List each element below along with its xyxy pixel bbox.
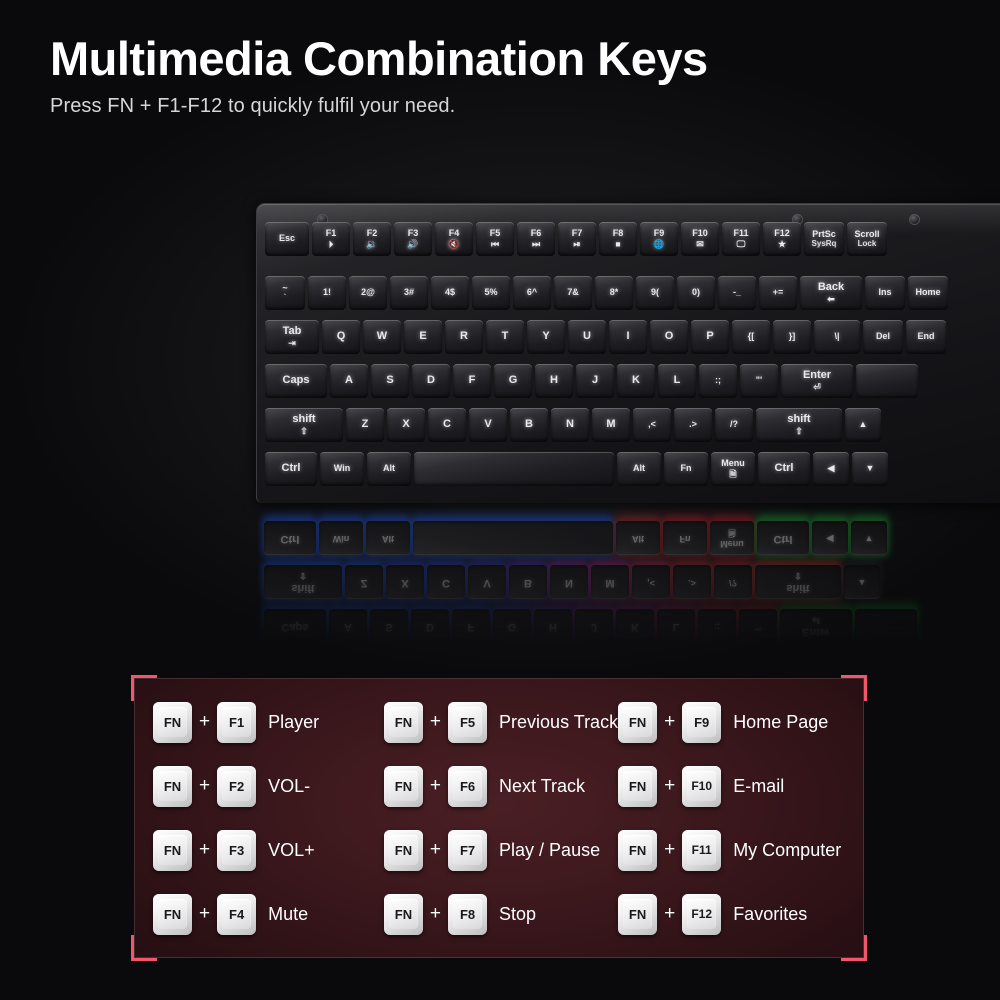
keyboard-key: F4🔇	[435, 222, 473, 256]
function-keycap-label: F12	[691, 907, 712, 921]
fn-keycap-label: FN	[395, 779, 412, 794]
key-glyph-icon: ⬅	[827, 295, 835, 304]
keyboard-key: K	[616, 609, 654, 643]
key-label: 6^	[527, 288, 537, 297]
combination-action-label: E-mail	[733, 776, 784, 797]
key-label: Z	[361, 576, 368, 588]
keyboard-key: {[	[732, 320, 770, 354]
keyboard-key: /?	[715, 408, 753, 442]
key-label: K	[632, 375, 640, 387]
keyboard-reflection: EscF1⏵F2🔉F3🔊F4🔇F5⏮F6⏭F7⏯F8⏹F9🌐F10✉F11🖵F1…	[256, 503, 1000, 653]
fn-keycap: FN	[153, 766, 192, 807]
key-label: 0)	[692, 288, 700, 297]
keyboard-key: Ins	[865, 276, 905, 310]
keyboard-key: H	[534, 609, 572, 643]
keyboard-key: F8⏹	[599, 222, 637, 256]
key-label: C	[442, 576, 450, 588]
key-label: Scroll	[854, 230, 879, 239]
function-keycap: F7	[448, 830, 487, 871]
key-label: F9	[654, 229, 665, 238]
keyboard-key: shift⇧	[265, 408, 343, 442]
keyboard-key: ▼	[852, 452, 888, 486]
keyboard-key: X	[386, 565, 424, 599]
keyboard-body: EscF1⏵F2🔉F3🔊F4🔇F5⏮F6⏭F7⏯F8⏹F9🌐F10✉F11🖵F1…	[256, 503, 1000, 653]
combination-row: FN+F5Previous Track	[384, 690, 618, 754]
key-label: Q	[337, 331, 346, 343]
keyboard-key: ▲	[844, 565, 880, 599]
keyboard-key: shift⇧	[755, 565, 841, 599]
key-label: V	[483, 576, 490, 588]
keyboard-bottom-row: CtrlWinAltAltFnMenu🗎Ctrl◀▼	[265, 452, 891, 486]
key-glyph-icon: ★	[778, 240, 786, 249]
combination-row: FN+F10E-mail	[618, 754, 849, 818]
keyboard-key: N	[551, 408, 589, 442]
key-label: Enter	[803, 370, 831, 382]
plus-sign: +	[199, 711, 210, 733]
function-keycap: F3	[217, 830, 256, 871]
key-label: 8*	[610, 288, 619, 297]
keyboard-key: Z	[346, 408, 384, 442]
keyboard-key: P	[691, 320, 729, 354]
keyboard-key: F3🔊	[394, 222, 432, 256]
combination-row: FN+F8Stop	[384, 882, 618, 946]
keyboard-key: 3#	[390, 276, 428, 310]
key-label: F12	[774, 229, 790, 238]
keyboard-key: 7&	[554, 276, 592, 310]
key-label: Fn	[681, 464, 692, 473]
key-label: Ins	[878, 288, 891, 297]
keyboard-key: F7⏯	[558, 222, 596, 256]
combination-row: FN+F6Next Track	[384, 754, 618, 818]
key-label: {[	[748, 332, 755, 341]
keyboard-function-row: EscF1⏵F2🔉F3🔊F4🔇F5⏮F6⏭F7⏯F8⏹F9🌐F10✉F11🖵F1…	[265, 222, 890, 256]
key-label: X	[402, 419, 409, 431]
keyboard-key	[856, 364, 918, 398]
key-label: I	[626, 331, 629, 343]
function-keycap-label: F1	[229, 715, 244, 730]
keyboard-key: \|	[814, 320, 860, 354]
key-label: Win	[334, 464, 350, 473]
key-label: :;	[715, 376, 721, 385]
key-label: Del	[876, 332, 890, 341]
fn-keycap-label: FN	[395, 715, 412, 730]
keyboard-key: T	[486, 320, 524, 354]
key-label: ▲	[858, 577, 867, 586]
fn-keycap: FN	[618, 702, 657, 743]
keyboard-key: M	[592, 408, 630, 442]
keyboard-key: Home	[908, 276, 948, 310]
keyboard-key: Alt	[617, 452, 661, 486]
fn-keycap-label: FN	[629, 843, 646, 858]
key-label: Enter	[802, 625, 830, 637]
key-label: "'	[756, 376, 762, 385]
keyboard-key: K	[617, 364, 655, 398]
keyboard-key: ◀	[812, 521, 848, 555]
keyboard-key: ~`	[265, 276, 305, 310]
function-keycap: F8	[448, 894, 487, 935]
key-label: Z	[362, 419, 369, 431]
key-label: Caps	[283, 375, 310, 387]
combination-action-label: Previous Track	[499, 712, 618, 733]
keyboard-key: "'	[739, 609, 777, 643]
key-label: }]	[789, 332, 796, 341]
key-label: N	[565, 576, 573, 588]
function-keycap-label: F5	[460, 715, 475, 730]
key-label: /?	[730, 420, 738, 429]
key-label: Alt	[633, 464, 645, 473]
function-keycap-label: F9	[694, 715, 709, 730]
keyboard-key: Win	[320, 452, 364, 486]
fn-keycap: FN	[618, 766, 657, 807]
combination-keys-grid: FN+F1PlayerFN+F5Previous TrackFN+F9Home …	[135, 679, 863, 957]
key-label: End	[918, 332, 935, 341]
key-glyph-icon: ⏭	[532, 240, 540, 249]
keyboard-key: Back⬅	[800, 276, 862, 310]
keyboard-key: G	[493, 609, 531, 643]
keyboard-key: F9🌐	[640, 222, 678, 256]
keyboard-key: F12★	[763, 222, 801, 256]
keyboard-key: N	[550, 565, 588, 599]
key-label: Alt	[382, 533, 394, 542]
keyboard-body: EscF1⏵F2🔉F3🔊F4🔇F5⏮F6⏭F7⏯F8⏹F9🌐F10✉F11🖵F1…	[256, 203, 1000, 503]
keyboard-key: Ctrl	[757, 521, 809, 555]
function-keycap-label: F7	[460, 843, 475, 858]
key-label: G	[509, 375, 518, 387]
key-glyph-icon: 🔉	[366, 240, 377, 249]
key-label: Menu	[721, 459, 745, 468]
key-label: E	[419, 331, 426, 343]
key-label: F	[468, 620, 475, 632]
key-label: L	[673, 620, 680, 632]
key-label: Ctrl	[281, 532, 300, 544]
keyboard-key: Caps	[264, 609, 326, 643]
keyboard-key: 0)	[677, 276, 715, 310]
plus-sign: +	[664, 711, 675, 733]
keyboard-image: EscF1⏵F2🔉F3🔊F4🔇F5⏮F6⏭F7⏯F8⏹F9🌐F10✉F11🖵F1…	[256, 203, 1000, 503]
function-keycap: F12	[682, 894, 721, 935]
keyboard-key: J	[576, 364, 614, 398]
key-label: 3#	[404, 288, 414, 297]
page-background: Multimedia Combination Keys Press FN + F…	[0, 0, 1000, 1000]
key-label: J	[591, 620, 597, 632]
keyboard-key: End	[906, 320, 946, 354]
keyboard-key: J	[575, 609, 613, 643]
keyboard-key: F10✉	[681, 222, 719, 256]
key-label: Caps	[282, 620, 309, 632]
keyboard-shift-row: shift⇧ZXCVBNM,<.>/?shift⇧▲	[264, 565, 883, 599]
key-label: .>	[689, 420, 697, 429]
combination-action-label: Mute	[268, 904, 308, 925]
key-label: Ctrl	[282, 463, 301, 475]
key-label: F3	[408, 229, 419, 238]
key-label: shift	[292, 414, 315, 426]
keyboard-key: ▲	[845, 408, 881, 442]
key-label: D	[426, 620, 434, 632]
key-label: J	[592, 375, 598, 387]
key-label: ▼	[865, 533, 874, 542]
keyboard-key: Alt	[367, 452, 411, 486]
keyboard-key: .>	[674, 408, 712, 442]
key-label: T	[502, 331, 509, 343]
keyboard-key: V	[469, 408, 507, 442]
combination-action-label: Home Page	[733, 712, 828, 733]
plus-sign: +	[430, 775, 441, 797]
keyboard-key: C	[427, 565, 465, 599]
key-label: ~	[282, 284, 287, 293]
keyboard-key: ,<	[632, 565, 670, 599]
keyboard-key: C	[428, 408, 466, 442]
function-keycap: F9	[682, 702, 721, 743]
keyboard-key: ScrollLock	[847, 222, 887, 256]
keyboard-key: X	[387, 408, 425, 442]
combination-row: FN+F1Player	[153, 690, 384, 754]
keyboard-key: ▼	[851, 521, 887, 555]
keyboard-key: Enter⏎	[780, 609, 852, 643]
keyboard-key: Fn	[664, 452, 708, 486]
key-label: B	[524, 576, 532, 588]
keyboard-key: B	[510, 408, 548, 442]
key-label: F5	[490, 229, 501, 238]
key-label: shift	[787, 414, 810, 426]
key-sublabel: `	[284, 294, 287, 302]
keyboard-key: Menu🗎	[710, 521, 754, 555]
keyboard-key: G	[494, 364, 532, 398]
keyboard-key: F5⏮	[476, 222, 514, 256]
key-label: M	[606, 419, 615, 431]
keyboard-key: F6⏭	[517, 222, 555, 256]
keyboard-key: F2🔉	[353, 222, 391, 256]
key-glyph-icon: ⏎	[812, 615, 820, 624]
key-label: N	[566, 419, 574, 431]
keyboard-key: S	[370, 609, 408, 643]
keyboard-key: Ctrl	[265, 452, 317, 486]
keyboard-key: 6^	[513, 276, 551, 310]
plus-sign: +	[430, 903, 441, 925]
key-label: F6	[531, 229, 542, 238]
key-label: PrtSc	[812, 230, 836, 239]
function-keycap-label: F3	[229, 843, 244, 858]
combination-action-label: Next Track	[499, 776, 585, 797]
key-label: ,<	[648, 420, 656, 429]
key-label: H	[549, 620, 557, 632]
keyboard-key: Tab⇥	[265, 320, 319, 354]
keyboard-key: Alt	[616, 521, 660, 555]
keyboard-key: H	[535, 364, 573, 398]
key-label: F7	[572, 229, 583, 238]
key-label: F2	[367, 229, 378, 238]
header: Multimedia Combination Keys Press FN + F…	[50, 34, 950, 118]
key-label: K	[631, 620, 639, 632]
key-glyph-icon: ⏵	[329, 240, 334, 249]
keyboard-key: Enter⏎	[781, 364, 853, 398]
key-label: Fn	[680, 533, 691, 542]
keyboard-bottom-row: CtrlWinAltAltFnMenu🗎Ctrl◀▼	[264, 521, 890, 555]
fn-keycap: FN	[153, 894, 192, 935]
fn-keycap-label: FN	[164, 843, 181, 858]
keyboard-key: Ctrl	[264, 521, 316, 555]
keyboard-key: 8*	[595, 276, 633, 310]
key-label: ◀	[827, 533, 834, 542]
key-label: 5%	[484, 288, 497, 297]
keyboard-key: -_	[718, 276, 756, 310]
keyboard-key: F	[453, 364, 491, 398]
key-label: \|	[834, 332, 839, 341]
key-label: P	[706, 331, 713, 343]
keyboard-key: A	[330, 364, 368, 398]
key-glyph-icon: ⏹	[616, 240, 621, 249]
combination-row: FN+F9Home Page	[618, 690, 849, 754]
key-glyph-icon: 🗎	[728, 528, 735, 537]
plus-sign: +	[430, 711, 441, 733]
function-keycap: F2	[217, 766, 256, 807]
function-keycap-label: F8	[460, 907, 475, 922]
keyboard-key: Esc	[265, 222, 309, 256]
fn-keycap: FN	[153, 702, 192, 743]
combination-row: FN+F12Favorites	[618, 882, 849, 946]
keyboard-key: "'	[740, 364, 778, 398]
keyboard-key: +=	[759, 276, 797, 310]
keyboard-key: Menu🗎	[711, 452, 755, 486]
keyboard-key: PrtScSysRq	[804, 222, 844, 256]
key-glyph-icon: 🔊	[407, 240, 418, 249]
key-label: "'	[755, 621, 761, 630]
key-label: .>	[688, 577, 696, 586]
key-label: shift	[786, 581, 809, 593]
key-label: B	[525, 419, 533, 431]
keyboard-key: 9(	[636, 276, 674, 310]
fn-keycap-label: FN	[395, 843, 412, 858]
key-glyph-icon: ⇧	[794, 571, 802, 580]
keyboard-key	[414, 452, 614, 486]
key-label: U	[583, 331, 591, 343]
plus-sign: +	[430, 839, 441, 861]
fn-keycap-label: FN	[164, 715, 181, 730]
keyboard-screw	[909, 214, 920, 225]
keyboard-home-row: CapsASDFGHJKL:;"'Enter⏎	[264, 609, 920, 643]
key-label: /?	[729, 577, 737, 586]
key-label: Ctrl	[774, 532, 793, 544]
key-glyph-icon: ⏎	[813, 383, 821, 392]
key-label: Alt	[632, 533, 644, 542]
plus-sign: +	[199, 775, 210, 797]
fn-keycap-label: FN	[629, 715, 646, 730]
fn-keycap: FN	[384, 702, 423, 743]
key-label: ◀	[828, 464, 835, 473]
keyboard-key: F	[452, 609, 490, 643]
key-label: Alt	[383, 464, 395, 473]
keyboard-key: R	[445, 320, 483, 354]
key-label: X	[401, 576, 408, 588]
keyboard-key: S	[371, 364, 409, 398]
combination-keys-panel: FN+F1PlayerFN+F5Previous TrackFN+F9Home …	[134, 678, 864, 958]
keyboard-key: Fn	[663, 521, 707, 555]
page-title: Multimedia Combination Keys	[50, 34, 950, 83]
key-label: S	[385, 620, 392, 632]
fn-keycap-label: FN	[164, 779, 181, 794]
key-label: Tab	[283, 326, 302, 338]
function-keycap: F1	[217, 702, 256, 743]
key-glyph-icon: 🖵	[737, 240, 746, 249]
key-glyph-icon: ✉	[696, 240, 704, 249]
keyboard-key: .>	[673, 565, 711, 599]
key-label: Menu	[720, 538, 744, 547]
key-label: Ctrl	[775, 463, 794, 475]
fn-keycap-label: FN	[629, 907, 646, 922]
fn-keycap-label: FN	[629, 779, 646, 794]
key-label: Y	[542, 331, 549, 343]
keyboard-key: Y	[527, 320, 565, 354]
keyboard-key: Alt	[366, 521, 410, 555]
key-label: F8	[613, 229, 624, 238]
key-label: Esc	[279, 234, 295, 243]
key-label: ▼	[866, 464, 875, 473]
function-keycap: F4	[217, 894, 256, 935]
keyboard-key: B	[509, 565, 547, 599]
function-keycap-label: F6	[460, 779, 475, 794]
keyboard-key: F1⏵	[312, 222, 350, 256]
key-label: F	[469, 375, 476, 387]
keyboard-number-row: ~`1!2@3#4$5%6^7&8*9(0)-_+=Back⬅InsHome	[265, 276, 951, 310]
key-glyph-icon: 🗎	[729, 470, 736, 479]
key-glyph-icon: ⇧	[300, 427, 308, 436]
key-label: ▲	[859, 420, 868, 429]
combination-row: FN+F4Mute	[153, 882, 384, 946]
key-label: :;	[714, 621, 720, 630]
key-label: 1!	[323, 288, 331, 297]
combination-action-label: VOL-	[268, 776, 310, 797]
keyboard-shift-row: shift⇧ZXCVBNM,<.>/?shift⇧▲	[265, 408, 884, 442]
fn-keycap: FN	[384, 766, 423, 807]
key-label: L	[674, 375, 681, 387]
combination-row: FN+F2VOL-	[153, 754, 384, 818]
keyboard-key: D	[411, 609, 449, 643]
keyboard-key: /?	[714, 565, 752, 599]
keyboard-key: V	[468, 565, 506, 599]
function-keycap-label: F10	[691, 779, 712, 793]
combination-action-label: Stop	[499, 904, 536, 925]
function-keycap: F11	[682, 830, 721, 871]
key-label: H	[550, 375, 558, 387]
plus-sign: +	[664, 903, 675, 925]
keyboard-key: D	[412, 364, 450, 398]
keyboard-key	[855, 609, 917, 643]
key-glyph-icon: ⏮	[491, 240, 499, 249]
key-label: D	[427, 375, 435, 387]
key-label: 9(	[651, 288, 659, 297]
key-label: F1	[326, 229, 337, 238]
keyboard-home-row: CapsASDFGHJKL:;"'Enter⏎	[265, 364, 921, 398]
key-label: R	[460, 331, 468, 343]
function-keycap-label: F4	[229, 907, 244, 922]
key-label: 2@	[361, 288, 375, 297]
key-sublabel: SysRq	[812, 240, 837, 248]
key-label: V	[484, 419, 491, 431]
keyboard-key: U	[568, 320, 606, 354]
keyboard-key: :;	[699, 364, 737, 398]
keyboard-key: 1!	[308, 276, 346, 310]
keyboard-key: ,<	[633, 408, 671, 442]
key-label: Home	[915, 288, 940, 297]
keyboard-key: I	[609, 320, 647, 354]
function-keycap-label: F11	[692, 843, 712, 857]
plus-sign: +	[199, 839, 210, 861]
plus-sign: +	[664, 775, 675, 797]
function-keycap: F5	[448, 702, 487, 743]
keyboard-key: Win	[319, 521, 363, 555]
key-label: F4	[449, 229, 460, 238]
combination-row: FN+F11My Computer	[618, 818, 849, 882]
key-label: Win	[333, 533, 349, 542]
